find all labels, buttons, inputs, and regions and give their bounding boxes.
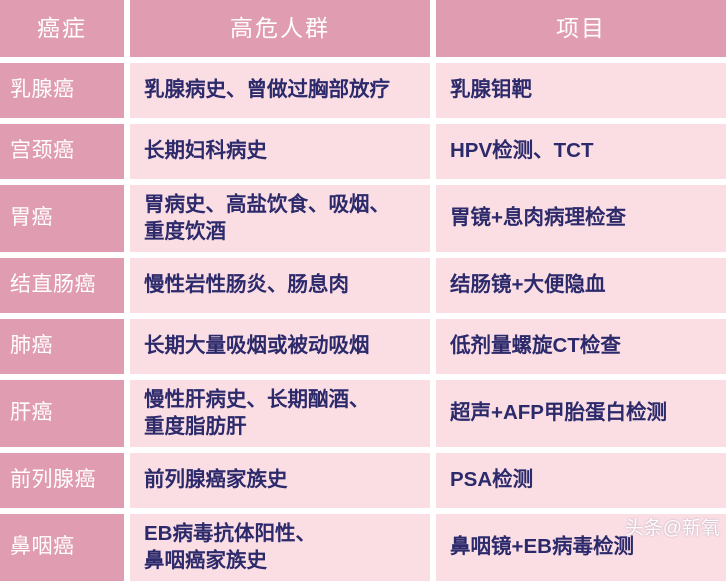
- text-line: EB病毒抗体阳性、: [144, 521, 316, 547]
- high-risk-group-cell: 长期妇科病史: [130, 124, 430, 179]
- cancer-name-label: 乳腺癌: [10, 78, 75, 102]
- cancer-name-cell: 结直肠癌: [0, 258, 124, 313]
- text-line: 鼻咽癌家族史: [144, 548, 316, 574]
- text-line: 结肠镜+大便隐血: [450, 272, 605, 298]
- cancer-name-label: 肝癌: [10, 401, 53, 425]
- cancer-screening-table: 癌症 高危人群 项目 乳腺癌 乳腺病史、曾做过胸部放疗 乳腺钼靶 宫颈癌 长期妇…: [0, 0, 726, 548]
- text-line: 低剂量螺旋CT检查: [450, 333, 621, 359]
- high-risk-group-cell: 胃病史、高盐饮食、吸烟、重度饮酒: [130, 185, 430, 252]
- text-line: 长期大量吸烟或被动吸烟: [144, 333, 370, 359]
- screening-item-text: 乳腺钼靶: [450, 77, 532, 103]
- text-line: 长期妇科病史: [144, 138, 267, 164]
- text-line: PSA检测: [450, 467, 533, 493]
- high-risk-group-text: 慢性岩性肠炎、肠息肉: [144, 272, 349, 298]
- text-line: 胃镜+息肉病理检查: [450, 205, 626, 231]
- screening-item-cell: 乳腺钼靶: [436, 63, 726, 118]
- screening-item-text: HPV检测、TCT: [450, 138, 594, 164]
- cancer-name-label: 肺癌: [10, 334, 53, 358]
- table-row: 乳腺癌 乳腺病史、曾做过胸部放疗 乳腺钼靶: [0, 63, 726, 118]
- screening-item-text: 结肠镜+大便隐血: [450, 272, 605, 298]
- screening-item-text: 胃镜+息肉病理检查: [450, 205, 626, 231]
- cancer-name-cell: 肝癌: [0, 380, 124, 447]
- high-risk-group-cell: 慢性岩性肠炎、肠息肉: [130, 258, 430, 313]
- cancer-name-cell: 宫颈癌: [0, 124, 124, 179]
- cancer-name-label: 鼻咽癌: [10, 535, 75, 559]
- cancer-name-label: 结直肠癌: [10, 273, 96, 297]
- text-line: 鼻咽镜+EB病毒检测: [450, 534, 634, 560]
- screening-item-cell: 低剂量螺旋CT检查: [436, 319, 726, 374]
- screening-item-cell: 超声+AFP甲胎蛋白检测: [436, 380, 726, 447]
- high-risk-group-cell: 乳腺病史、曾做过胸部放疗: [130, 63, 430, 118]
- text-line: 乳腺病史、曾做过胸部放疗: [144, 77, 390, 103]
- column-header-cancer-label: 癌症: [37, 16, 87, 41]
- screening-item-cell: 胃镜+息肉病理检查: [436, 185, 726, 252]
- text-line: HPV检测、TCT: [450, 138, 594, 164]
- cancer-name-cell: 前列腺癌: [0, 453, 124, 508]
- high-risk-group-cell: 长期大量吸烟或被动吸烟: [130, 319, 430, 374]
- high-risk-group-text: 长期妇科病史: [144, 138, 267, 164]
- high-risk-group-cell: 慢性肝病史、长期酗酒、重度脂肪肝: [130, 380, 430, 447]
- table-row: 胃癌 胃病史、高盐饮食、吸烟、重度饮酒 胃镜+息肉病理检查: [0, 185, 726, 252]
- cancer-name-cell: 肺癌: [0, 319, 124, 374]
- table-row: 宫颈癌 长期妇科病史 HPV检测、TCT: [0, 124, 726, 179]
- screening-item-text: 超声+AFP甲胎蛋白检测: [450, 400, 667, 426]
- column-header-high-risk-group-label: 高危人群: [230, 16, 330, 41]
- table-header-row: 癌症 高危人群 项目: [0, 0, 726, 57]
- column-header-screening-item: 项目: [436, 0, 726, 57]
- column-header-high-risk-group: 高危人群: [130, 0, 430, 57]
- high-risk-group-text: 长期大量吸烟或被动吸烟: [144, 333, 370, 359]
- high-risk-group-text: 胃病史、高盐饮食、吸烟、重度饮酒: [144, 192, 390, 244]
- screening-item-cell: HPV检测、TCT: [436, 124, 726, 179]
- cancer-name-label: 胃癌: [10, 206, 53, 230]
- cancer-name-label: 前列腺癌: [10, 468, 96, 492]
- text-line: 乳腺钼靶: [450, 77, 532, 103]
- cancer-name-cell: 胃癌: [0, 185, 124, 252]
- screening-item-cell: PSA检测: [436, 453, 726, 508]
- text-line: 慢性肝病史、长期酗酒、: [144, 387, 370, 413]
- table-row: 肺癌 长期大量吸烟或被动吸烟 低剂量螺旋CT检查: [0, 319, 726, 374]
- cancer-name-label: 宫颈癌: [10, 139, 75, 163]
- screening-item-text: 低剂量螺旋CT检查: [450, 333, 621, 359]
- text-line: 慢性岩性肠炎、肠息肉: [144, 272, 349, 298]
- cancer-name-cell: 乳腺癌: [0, 63, 124, 118]
- table-row: 结直肠癌 慢性岩性肠炎、肠息肉 结肠镜+大便隐血: [0, 258, 726, 313]
- text-line: 前列腺癌家族史: [144, 467, 288, 493]
- high-risk-group-text: 前列腺癌家族史: [144, 467, 288, 493]
- screening-item-text: 鼻咽镜+EB病毒检测: [450, 534, 634, 560]
- text-line: 胃病史、高盐饮食、吸烟、: [144, 192, 390, 218]
- text-line: 重度饮酒: [144, 219, 390, 245]
- high-risk-group-text: 乳腺病史、曾做过胸部放疗: [144, 77, 390, 103]
- column-header-screening-item-label: 项目: [556, 16, 606, 41]
- column-header-cancer: 癌症: [0, 0, 124, 57]
- screening-item-text: PSA检测: [450, 467, 533, 493]
- table-row: 前列腺癌 前列腺癌家族史 PSA检测: [0, 453, 726, 508]
- screening-item-cell: 结肠镜+大便隐血: [436, 258, 726, 313]
- text-line: 超声+AFP甲胎蛋白检测: [450, 400, 667, 426]
- high-risk-group-cell: 前列腺癌家族史: [130, 453, 430, 508]
- text-line: 重度脂肪肝: [144, 414, 370, 440]
- table-row: 肝癌 慢性肝病史、长期酗酒、重度脂肪肝 超声+AFP甲胎蛋白检测: [0, 380, 726, 447]
- high-risk-group-text: 慢性肝病史、长期酗酒、重度脂肪肝: [144, 387, 370, 439]
